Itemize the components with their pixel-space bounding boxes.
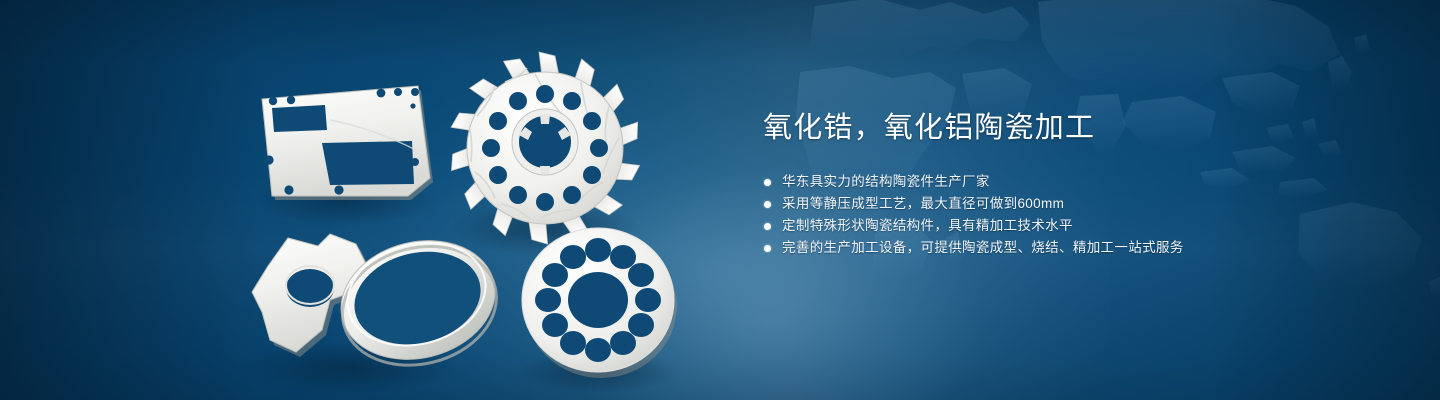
product-photo-collage: [0, 0, 740, 400]
feature-text: 定制特殊形状陶瓷结构件，具有精加工技术水平: [782, 215, 1073, 237]
bullet-dot-icon: [764, 223, 771, 230]
feature-text: 采用等静压成型工艺，最大直径可做到600mm: [782, 193, 1064, 215]
feature-text: 完善的生产加工设备，可提供陶瓷成型、烧结、精加工一站式服务: [782, 237, 1184, 259]
bullet-dot-icon: [764, 179, 771, 186]
feature-list: 华东具实力的结构陶瓷件生产厂家 采用等静压成型工艺，最大直径可做到600mm 定…: [764, 171, 1383, 259]
bullet-dot-icon: [764, 245, 771, 252]
list-item: 定制特殊形状陶瓷结构件，具有精加工技术水平: [764, 215, 1383, 237]
feature-text: 华东具实力的结构陶瓷件生产厂家: [782, 171, 990, 193]
list-item: 采用等静压成型工艺，最大直径可做到600mm: [764, 193, 1383, 215]
bullet-dot-icon: [764, 201, 771, 208]
banner-headline: 氧化锆，氧化铝陶瓷加工: [763, 108, 1383, 148]
promo-banner: 氧化锆，氧化铝陶瓷加工 华东具实力的结构陶瓷件生产厂家 采用等静压成型工艺，最大…: [0, 0, 1440, 400]
ceramic-plate-photo: [262, 86, 433, 200]
list-item: 华东具实力的结构陶瓷件生产厂家: [764, 171, 1383, 193]
list-item: 完善的生产加工设备，可提供陶瓷成型、烧结、精加工一站式服务: [764, 237, 1383, 259]
marketing-copy: 氧化锆，氧化铝陶瓷加工 华东具实力的结构陶瓷件生产厂家 采用等静压成型工艺，最大…: [763, 108, 1383, 259]
